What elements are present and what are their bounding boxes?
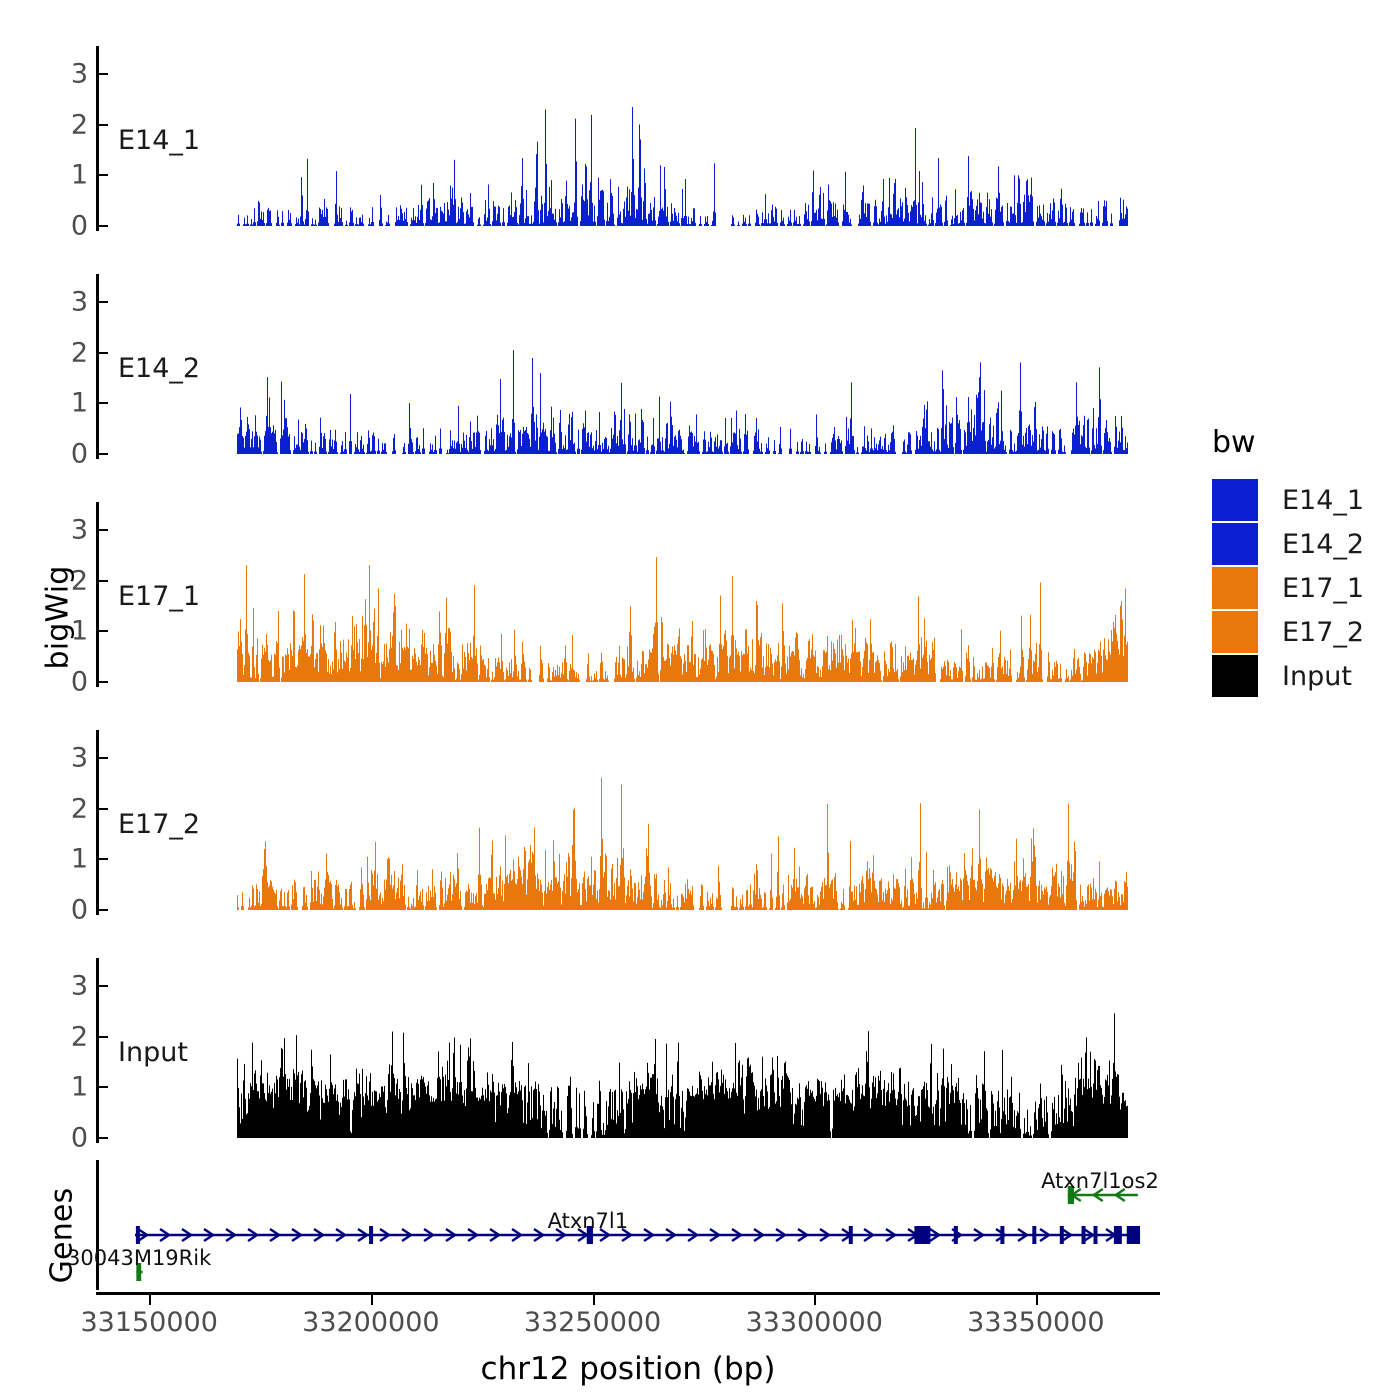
x-tick — [1036, 1295, 1038, 1305]
genes-axis-line — [96, 1160, 99, 1290]
signal-canvas-e14_2 — [237, 274, 1128, 456]
signal-canvas-e17_1 — [237, 502, 1128, 684]
track-label-e17_2: E17_2 — [118, 811, 200, 838]
legend-label-e17_1: E17_1 — [1282, 575, 1364, 602]
y-tick — [99, 301, 108, 303]
y-tick-label: 0 — [71, 441, 88, 468]
legend-item-input[interactable]: Input — [1212, 654, 1364, 698]
y-tick — [99, 757, 108, 759]
legend-item-e14_1[interactable]: E14_1 — [1212, 478, 1364, 522]
legend-label-e14_1: E14_1 — [1282, 487, 1364, 514]
y-tick-label: 1 — [71, 390, 88, 417]
legend-swatch-e17_1 — [1212, 567, 1258, 609]
y-tick — [99, 985, 108, 987]
y-tick — [99, 529, 108, 531]
y-tick — [99, 858, 108, 860]
track-panel-input: 0123Input — [96, 958, 1160, 1153]
x-axis-line — [96, 1292, 1160, 1295]
y-tick-label: 3 — [71, 516, 88, 543]
y-tick — [99, 453, 108, 455]
x-tick — [814, 1295, 816, 1305]
y-tick — [99, 580, 108, 582]
y-tick-label: 0 — [71, 213, 88, 240]
gene-label-4930043m19rik: 30043M19Rik — [67, 1248, 211, 1269]
y-tick — [99, 681, 108, 683]
x-axis-title: chr12 position (bp) — [96, 1354, 1160, 1385]
track-panel-e17_2: 0123E17_2 — [96, 730, 1160, 925]
legend-items: E14_1E14_2E17_1E17_2Input — [1212, 478, 1364, 698]
legend-swatch-e14_1 — [1212, 479, 1258, 521]
y-tick-label: 3 — [71, 60, 88, 87]
track-label-e14_2: E14_2 — [118, 355, 200, 382]
genes-axis-title: Genes — [45, 1166, 80, 1306]
x-tick — [593, 1295, 595, 1305]
legend-swatch-e14_2 — [1212, 523, 1258, 565]
y-tick — [99, 174, 108, 176]
y-tick — [99, 1036, 108, 1038]
y-tick — [99, 630, 108, 632]
y-tick-label: 1 — [71, 1074, 88, 1101]
legend: bw E14_1E14_2E17_1E17_2Input — [1212, 428, 1364, 698]
gene-label-atxn7l1: Atxn7l1 — [548, 1211, 629, 1232]
track-panel-e17_1: 0123E17_1 — [96, 502, 1160, 697]
signal-canvas-input — [237, 958, 1128, 1140]
y-tick-label: 1 — [71, 162, 88, 189]
signal-canvas-e17_2 — [237, 730, 1128, 912]
legend-title: bw — [1212, 428, 1364, 458]
x-tick — [149, 1295, 151, 1305]
x-tick — [371, 1295, 373, 1305]
legend-item-e17_2[interactable]: E17_2 — [1212, 610, 1364, 654]
track-panel-e14_1: 0123E14_1 — [96, 46, 1160, 241]
y-tick — [99, 225, 108, 227]
legend-swatch-e17_2 — [1212, 611, 1258, 653]
y-tick-label: 3 — [71, 972, 88, 999]
y-tick-label: 2 — [71, 339, 88, 366]
x-tick-label: 33350000 — [967, 1309, 1104, 1336]
legend-label-input: Input — [1282, 663, 1352, 690]
y-tick-label: 2 — [71, 567, 88, 594]
y-tick-label: 0 — [71, 1125, 88, 1152]
x-tick-label: 33300000 — [745, 1309, 882, 1336]
y-tick-label: 2 — [71, 111, 88, 138]
legend-item-e14_2[interactable]: E14_2 — [1212, 522, 1364, 566]
track-label-e14_1: E14_1 — [118, 127, 200, 154]
y-tick — [99, 73, 108, 75]
y-tick — [99, 402, 108, 404]
x-tick-label: 33150000 — [80, 1309, 217, 1336]
genes-track-panel: Atxn7l1Atxn7l1os230043M19Rik — [96, 1160, 1160, 1290]
y-tick-label: 3 — [71, 288, 88, 315]
legend-swatch-input — [1212, 655, 1258, 697]
signal-canvas-e14_1 — [237, 46, 1128, 228]
y-tick — [99, 124, 108, 126]
track-panel-e14_2: 0123E14_2 — [96, 274, 1160, 469]
y-tick-label: 3 — [71, 744, 88, 771]
y-tick — [99, 909, 108, 911]
x-tick-label: 33200000 — [302, 1309, 439, 1336]
y-tick — [99, 808, 108, 810]
track-label-input: Input — [118, 1039, 188, 1066]
y-tick-label: 0 — [71, 897, 88, 924]
gene-label-atxn7l1os2: Atxn7l1os2 — [1041, 1171, 1159, 1192]
x-tick-label: 33250000 — [524, 1309, 661, 1336]
y-tick-label: 1 — [71, 618, 88, 645]
y-tick-label: 2 — [71, 795, 88, 822]
y-tick-label: 0 — [71, 669, 88, 696]
legend-label-e17_2: E17_2 — [1282, 619, 1364, 646]
y-tick — [99, 1137, 108, 1139]
legend-label-e14_2: E14_2 — [1282, 531, 1364, 558]
y-tick-label: 1 — [71, 846, 88, 873]
y-tick — [99, 1086, 108, 1088]
track-label-e17_1: E17_1 — [118, 583, 200, 610]
y-tick — [99, 352, 108, 354]
y-tick-label: 2 — [71, 1023, 88, 1050]
legend-item-e17_1[interactable]: E17_1 — [1212, 566, 1364, 610]
